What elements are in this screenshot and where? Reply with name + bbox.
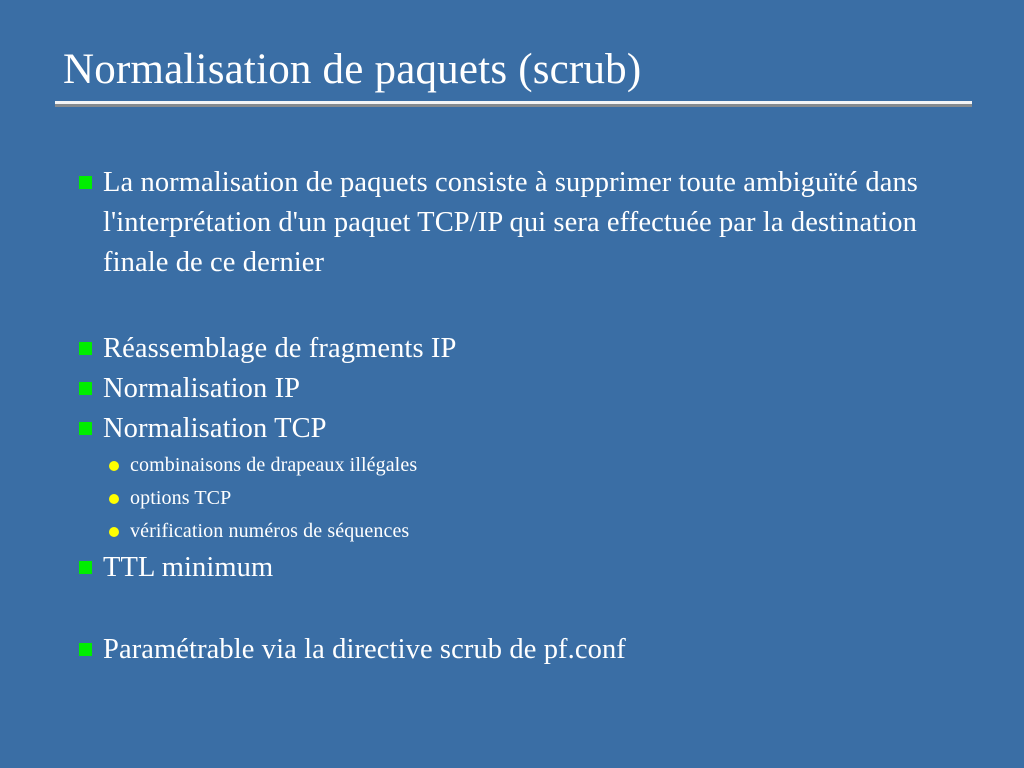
bullet-item-label: TTL minimum [103, 548, 958, 588]
title-block: Normalisation de paquets (scrub) [55, 48, 972, 107]
content-spacer [78, 588, 958, 630]
sub-bullet-item-label: vérification numéros de séquences [130, 520, 409, 542]
bullet-item-normalisation-ip: Normalisation IP [78, 369, 958, 409]
square-bullet-icon [79, 382, 92, 395]
slide-content: La normalisation de paquets consiste à s… [78, 163, 958, 670]
bullet-item-label: Paramétrable via la directive scrub de p… [103, 630, 958, 670]
square-bullet-icon [79, 643, 92, 656]
square-bullet-icon [79, 422, 92, 435]
bullet-item-label: La normalisation de paquets consiste à s… [103, 163, 943, 283]
sub-bullet-item-options-tcp: options TCP [78, 482, 958, 515]
circle-bullet-icon [109, 527, 119, 537]
title-divider-shadow [55, 104, 972, 107]
sub-bullet-item-drapeaux: combinaisons de drapeaux illégales [78, 449, 958, 482]
page-title: Normalisation de paquets (scrub) [55, 48, 972, 99]
title-divider [55, 101, 972, 107]
square-bullet-icon [79, 342, 92, 355]
sub-bullet-item-verification-sequences: vérification numéros de séquences [78, 515, 958, 548]
bullet-item-parametrable: Paramétrable via la directive scrub de p… [78, 630, 958, 670]
square-bullet-icon [79, 176, 92, 189]
bullet-item-normalisation-tcp: Normalisation TCP [78, 409, 958, 449]
content-spacer [78, 283, 958, 329]
bullet-item-label: Normalisation IP [103, 369, 958, 409]
circle-bullet-icon [109, 461, 119, 471]
sub-bullet-item-label: options TCP [130, 487, 231, 509]
bullet-item-reassemblage: Réassemblage de fragments IP [78, 329, 958, 369]
circle-bullet-icon [109, 494, 119, 504]
bullet-item-label: Normalisation TCP [103, 409, 958, 449]
bullet-item-ttl-minimum: TTL minimum [78, 548, 958, 588]
sub-bullet-item-label: combinaisons de drapeaux illégales [130, 454, 417, 476]
square-bullet-icon [79, 561, 92, 574]
slide: Normalisation de paquets (scrub) La norm… [0, 0, 1024, 768]
bullet-item-label: Réassemblage de fragments IP [103, 329, 958, 369]
bullet-item-intro: La normalisation de paquets consiste à s… [78, 163, 958, 283]
